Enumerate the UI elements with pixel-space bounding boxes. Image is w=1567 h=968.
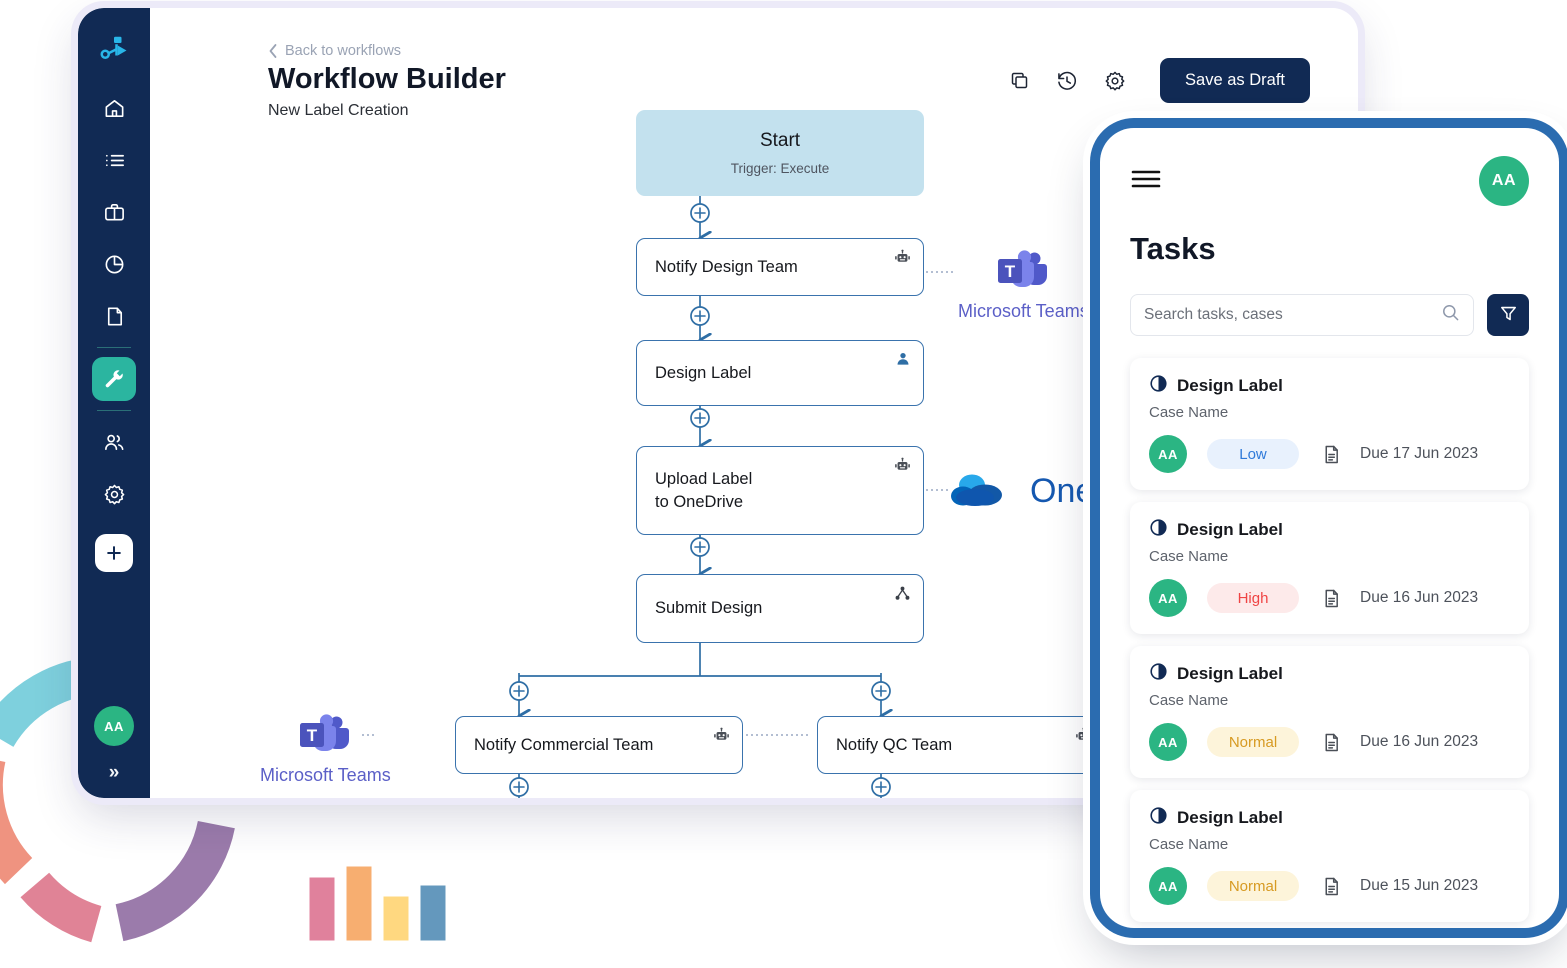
search-icon[interactable] [1441,303,1460,327]
task-assignee-avatar[interactable]: AA [1149,723,1187,761]
document-icon[interactable] [1321,588,1342,609]
tasks-card-list: Design Label Case Name AA Low [1130,358,1529,928]
task-assignee-avatar[interactable]: AA [1149,435,1187,473]
robot-icon [713,727,730,749]
task-due-date: Due 17 Jun 2023 [1360,445,1478,463]
integration-label: Microsoft Teams [260,765,391,786]
search-input[interactable] [1144,306,1441,324]
task-title: Design Label [1177,808,1283,828]
task-card[interactable]: Design Label Case Name AA High [1130,502,1529,634]
filter-icon [1499,304,1518,326]
expand-sidebar-icon[interactable]: » [109,762,120,784]
robot-icon [894,457,911,479]
task-assignee-avatar[interactable]: AA [1149,867,1187,905]
sidebar-divider-top [97,347,131,348]
node-label: Notify Design Team [655,256,798,278]
flow-node-notify-design-team[interactable]: Notify Design Team [636,238,924,296]
flow-node-start[interactable]: Start Trigger: Execute [636,110,924,196]
node-label: Notify QC Team [836,734,952,756]
robot-icon [1075,727,1092,749]
microsoft-teams-logo: T [996,250,1050,297]
task-assignee-avatar[interactable]: AA [1149,579,1187,617]
flow-node-submit-design[interactable]: Submit Design [636,574,924,643]
add-node-button[interactable] [95,534,133,572]
sidebar-item-workflow-builder[interactable] [92,357,136,401]
task-title: Design Label [1177,376,1283,396]
half-clock-icon [1149,806,1168,830]
sidebar-item-settings[interactable] [92,472,136,516]
priority-badge: Low [1207,439,1299,469]
node-label: Upload Label to OneDrive [655,468,752,513]
user-avatar[interactable]: AA [1479,156,1529,206]
integration-label: Microsoft Teams [958,301,1089,322]
sidebar-item-home[interactable] [92,86,136,130]
task-due-date: Due 15 Jun 2023 [1360,877,1478,895]
half-clock-icon [1149,374,1168,398]
sidebar-item-reports[interactable] [92,242,136,286]
task-title: Design Label [1177,520,1283,540]
start-node-subtitle: Trigger: Execute [731,161,830,176]
start-node-title: Start [760,130,800,152]
integration-microsoft-teams-commercial[interactable]: T Microsoft Teams [260,714,391,786]
decorative-bar-chart [278,812,468,962]
task-due-date: Due 16 Jun 2023 [1360,589,1478,607]
svg-text:T: T [307,726,318,745]
task-due-date: Due 16 Jun 2023 [1360,733,1478,751]
node-label-line2: to OneDrive [655,493,743,511]
sidebar-item-users[interactable] [92,420,136,464]
half-clock-icon [1149,662,1168,686]
sidebar-item-briefcase[interactable] [92,190,136,234]
tasks-mobile-panel: AA Tasks [1100,128,1559,928]
task-case-name: Case Name [1149,548,1510,565]
node-label: Notify Commercial Team [474,734,653,756]
search-box[interactable] [1130,294,1474,336]
filter-button[interactable] [1487,294,1529,336]
tasks-title: Tasks [1130,231,1529,267]
tasks-panel-header: AA [1130,156,1529,206]
task-case-name: Case Name [1149,404,1510,421]
microsoft-teams-logo: T [298,714,352,761]
priority-badge: Normal [1207,727,1299,757]
onedrive-logo [950,468,1018,515]
task-case-name: Case Name [1149,692,1510,709]
person-icon [895,351,911,372]
app-sidebar: AA » [78,8,150,798]
task-case-name: Case Name [1149,836,1510,853]
priority-badge: Normal [1207,871,1299,901]
robot-icon [894,249,911,271]
flow-node-design-label[interactable]: Design Label [636,340,924,406]
priority-badge: High [1207,583,1299,613]
node-label: Design Label [655,362,751,384]
flow-node-upload-label-to-onedrive[interactable]: Upload Label to OneDrive [636,446,924,535]
task-card[interactable]: Design Label Case Name AA Low [1130,358,1529,490]
task-title: Design Label [1177,664,1283,684]
tasks-search-row [1130,294,1529,336]
branch-icon [894,585,911,607]
hamburger-icon[interactable] [1130,167,1162,196]
task-card[interactable]: Design Label Case Name AA Normal [1130,790,1529,922]
flow-node-notify-qc-team[interactable]: Notify QC Team [817,716,1105,774]
workflow-logo-icon [94,28,134,68]
flow-node-notify-commercial-team[interactable]: Notify Commercial Team [455,716,743,774]
svg-text:T: T [1005,262,1016,281]
node-label-line1: Upload Label [655,470,752,488]
sidebar-avatar[interactable]: AA [94,706,134,746]
integration-microsoft-teams-design[interactable]: T Microsoft Teams [958,250,1089,322]
document-icon[interactable] [1321,732,1342,753]
sidebar-item-list[interactable] [92,138,136,182]
sidebar-divider-bottom [97,410,131,411]
half-clock-icon [1149,518,1168,542]
document-icon[interactable] [1321,444,1342,465]
task-card[interactable]: Design Label Case Name AA Normal [1130,646,1529,778]
document-icon[interactable] [1321,876,1342,897]
node-label: Submit Design [655,597,762,619]
sidebar-item-documents[interactable] [92,294,136,338]
